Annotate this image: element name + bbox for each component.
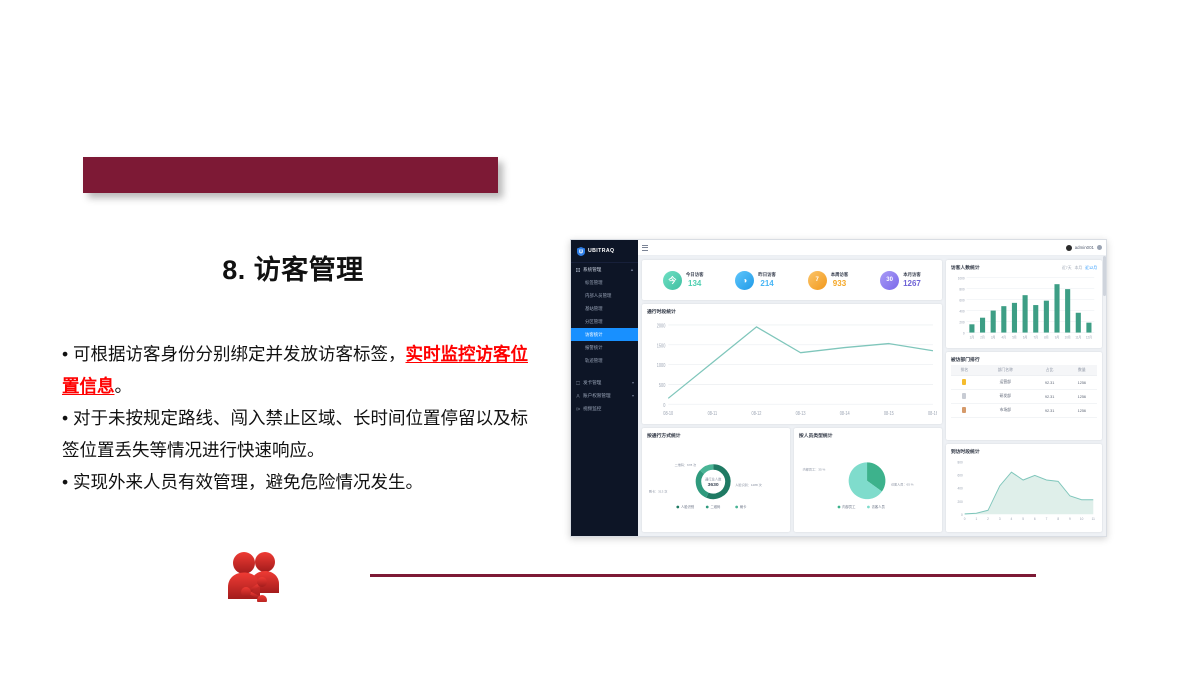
svg-text:0: 0 (963, 331, 965, 335)
sidebar-item-alarm-stats[interactable]: 报警统计 (571, 341, 638, 354)
col-rank: 排名 (951, 365, 978, 376)
sidebar-item-tag-mgmt[interactable]: 标签管理 (571, 276, 638, 289)
bar-chart-title: 访客人数统计 (951, 264, 980, 271)
svg-text:6: 6 (1034, 517, 1036, 521)
sidebar-item-visitor-stats[interactable]: 访客统计 (571, 328, 638, 341)
today-icon: 今 (663, 271, 682, 290)
area-chart: 020040060080001234567891011 (951, 457, 1097, 528)
user-name: admin001 (1075, 245, 1094, 250)
visitor-people-share-icon (226, 550, 288, 602)
svg-text:08-15: 08-15 (884, 410, 894, 416)
bell-icon[interactable] (1097, 245, 1102, 250)
svg-text:08-12: 08-12 (752, 410, 762, 416)
svg-text:刷卡: 刷卡 (740, 504, 747, 509)
dept-rank-table-card: 被访部门排行 排名 部门名称 占比 数量 运营部 (946, 352, 1102, 440)
svg-text:600: 600 (959, 298, 964, 302)
dept-name: 运营部 (978, 376, 1032, 390)
chevron-up-icon: ▲ (630, 267, 634, 272)
stat-value: 214 (760, 279, 773, 288)
stat-card-strip: 今 今日访客 134 ◑ 昨日访客 214 (642, 260, 942, 300)
sidebar-item-track-mgmt[interactable]: 轨迹管理 (571, 354, 638, 367)
svg-text:800: 800 (957, 460, 962, 464)
chevron-down-icon: ▾ (632, 393, 634, 398)
sidebar-item-zone-mgmt[interactable]: 分区管理 (571, 315, 638, 328)
yesterday-icon: ◑ (735, 271, 754, 290)
week-icon: 7 (808, 271, 827, 290)
sidebar-item-label: 轨迹管理 (585, 358, 603, 364)
svg-text:400: 400 (957, 487, 962, 491)
tab-last-7-days[interactable]: 近7天 (1062, 266, 1072, 271)
dept-count: 1256 (1067, 376, 1097, 390)
svg-text:2: 2 (987, 517, 989, 521)
medal-icon (962, 407, 966, 413)
col-pct: 占比 (1033, 365, 1067, 376)
donut-chart-title: 按通行方式统计 (647, 432, 785, 439)
pie-chart-card: 按人员类型统计 内部员工：35 %访客人员：65 %内部员工访客人员 (794, 428, 942, 532)
svg-text:人脸识别：1288 次: 人脸识别：1288 次 (735, 482, 761, 487)
stat-week[interactable]: 7 本周访客 933 (808, 271, 849, 290)
dept-name: 研发部 (978, 390, 1032, 404)
svg-text:10: 10 (1080, 517, 1084, 521)
area-chart-title: 到访时段统计 (951, 448, 1097, 455)
title-accent-bar (83, 157, 498, 193)
tab-last-12-months[interactable]: 近12月 (1085, 266, 1097, 271)
col-dept: 部门名称 (978, 365, 1032, 376)
svg-text:0: 0 (964, 517, 966, 521)
dept-rank-table: 排名 部门名称 占比 数量 运营部 92.31 1256 (951, 365, 1097, 418)
rank-medal-cell (951, 390, 978, 404)
stat-label: 昨日访客 (758, 272, 776, 278)
stat-yesterday[interactable]: ◑ 昨日访客 214 (735, 271, 776, 290)
svg-text:11月: 11月 (1075, 335, 1081, 339)
sidebar-item-label: 访客统计 (585, 332, 603, 338)
dept-count: 1256 (1067, 390, 1097, 404)
bullet-1-lead: • 可根据访客身份分别绑定并发放访客标签， (62, 344, 406, 364)
svg-text:0: 0 (663, 402, 666, 408)
grid-icon (576, 268, 580, 272)
bar-chart: 020040060080010001月2月3月4月5月6月7月8月9月10月11… (951, 273, 1097, 344)
svg-text:500: 500 (659, 383, 666, 389)
svg-text:800: 800 (959, 287, 964, 291)
hamburger-icon[interactable] (642, 245, 648, 251)
line-chart-title: 通行时段统计 (647, 308, 937, 315)
dept-pct: 92.31 (1033, 376, 1067, 390)
svg-text:内部员工：35 %: 内部员工：35 % (803, 467, 826, 472)
col-count: 数量 (1067, 365, 1097, 376)
bar-chart-card: 访客人数统计 近7天 本月 近12月 020040060080010001月2月… (946, 260, 1102, 348)
dashboard-topbar: admin001 (638, 240, 1106, 256)
dept-pct: 92.31 (1033, 390, 1067, 404)
svg-text:2000: 2000 (657, 323, 666, 329)
svg-text:1500: 1500 (657, 343, 666, 349)
sidebar-divider (571, 367, 638, 376)
board-right-column: 访客人数统计 近7天 本月 近12月 020040060080010001月2月… (946, 260, 1102, 532)
line-chart-card: 通行时段统计 050010001500200008-1008-1108-1208… (642, 304, 942, 424)
bullet-list: • 可根据访客身份分别绑定并发放访客标签，实时监控访客位置信息。 • 对于未按规… (62, 338, 542, 498)
svg-text:二维码: 二维码 (710, 504, 721, 509)
chevron-down-icon: ▾ (632, 380, 634, 385)
svg-text:3月: 3月 (991, 335, 996, 339)
dashboard-main: admin001 今 今日访客 134 (638, 240, 1106, 536)
sidebar-group-account-perm[interactable]: 账户权限管理 ▾ (571, 389, 638, 402)
page-title: 8. 访客管理 (83, 248, 503, 287)
shield-icon (577, 247, 585, 256)
bullet-item-1: • 可根据访客身份分别绑定并发放访客标签，实时监控访客位置信息。 (62, 338, 542, 402)
bullet-1-tail: 。 (115, 376, 133, 396)
sidebar-group-label: 账户权限管理 (583, 393, 611, 399)
svg-text:4: 4 (1010, 517, 1012, 521)
svg-text:0: 0 (961, 513, 963, 517)
svg-text:08-16: 08-16 (928, 410, 937, 416)
sidebar-item-label: 标签管理 (585, 280, 603, 286)
dashboard-screenshot: UBITRAQ 系统管理 ▲ 标签管理 内部人员管理 基站管理 分区管理 访客统… (570, 239, 1107, 537)
dept-rank-title: 被访部门排行 (951, 356, 1097, 363)
svg-text:200: 200 (957, 500, 962, 504)
stat-label: 本周访客 (831, 272, 849, 278)
pie-row: 按通行方式统计 通行总人数3630二维码：678 次刷卡：313 次人脸识别：1… (642, 428, 942, 532)
svg-text:4月: 4月 (1001, 335, 1006, 339)
svg-text:二维码：678 次: 二维码：678 次 (675, 462, 697, 467)
bullet-item-2: • 对于未按规定路线、闯入禁止区域、长时间位置停留以及标签位置丢失等情况进行快速… (62, 402, 542, 466)
svg-text:08-13: 08-13 (796, 410, 806, 416)
stat-label: 今日访客 (686, 272, 704, 278)
user-lock-icon (576, 394, 580, 398)
line-chart: 050010001500200008-1008-1108-1208-1308-1… (647, 317, 937, 420)
sidebar-item-label: 内部人员管理 (585, 293, 611, 299)
dashboard-board: 今 今日访客 134 ◑ 昨日访客 214 (638, 256, 1106, 536)
svg-text:内部员工: 内部员工 (842, 504, 856, 509)
month-icon: 30 (880, 271, 899, 290)
rank-medal-cell (951, 376, 978, 390)
stat-label: 本月访客 (903, 272, 921, 278)
svg-text:通行总人数: 通行总人数 (705, 477, 722, 482)
sidebar-item-label: 分区管理 (585, 319, 603, 325)
tab-this-month[interactable]: 本月 (1075, 266, 1083, 271)
svg-text:9月: 9月 (1055, 335, 1060, 339)
sidebar-group-video[interactable]: 视频监控 (571, 402, 638, 415)
sidebar-group-label: 视频监控 (583, 406, 601, 412)
app-logo[interactable]: UBITRAQ (571, 240, 638, 263)
board-left-column: 今 今日访客 134 ◑ 昨日访客 214 (642, 260, 942, 532)
svg-text:10月: 10月 (1064, 335, 1070, 339)
area-chart-card: 到访时段统计 020040060080001234567891011 (946, 444, 1102, 532)
card-icon (576, 381, 580, 385)
svg-text:6月: 6月 (1023, 335, 1028, 339)
svg-text:8: 8 (1057, 517, 1059, 521)
svg-text:3630: 3630 (708, 482, 719, 488)
dept-name: 市场部 (978, 404, 1032, 418)
svg-text:5月: 5月 (1012, 335, 1017, 339)
sidebar-item-internal-staff[interactable]: 内部人员管理 (571, 289, 638, 302)
svg-text:08-10: 08-10 (663, 410, 673, 416)
sidebar-item-label: 基站管理 (585, 306, 603, 312)
svg-text:访客人员: 访客人员 (872, 504, 886, 509)
bar-chart-range-tabs: 近7天 本月 近12月 (1062, 266, 1097, 271)
svg-text:400: 400 (959, 309, 964, 313)
svg-text:08-14: 08-14 (840, 410, 850, 416)
svg-text:7月: 7月 (1033, 335, 1038, 339)
svg-text:600: 600 (957, 473, 962, 477)
app-logo-text: UBITRAQ (588, 248, 614, 254)
sidebar-group-label: 发卡管理 (583, 380, 601, 386)
footer-rule (370, 574, 1036, 577)
rank-medal-cell (951, 404, 978, 418)
svg-text:2月: 2月 (980, 335, 985, 339)
sidebar-item-station-mgmt[interactable]: 基站管理 (571, 302, 638, 315)
svg-text:1000: 1000 (958, 276, 965, 280)
svg-text:200: 200 (959, 320, 964, 324)
stat-value: 134 (688, 279, 701, 288)
svg-text:3: 3 (999, 517, 1001, 521)
medal-icon (962, 393, 966, 399)
donut-chart-card: 按通行方式统计 通行总人数3630二维码：678 次刷卡：313 次人脸识别：1… (642, 428, 790, 532)
bullet-item-3: • 实现外来人员有效管理，避免危险情况发生。 (62, 466, 542, 498)
topbar-user-area: admin001 (1066, 245, 1102, 251)
page-scrollbar[interactable] (1103, 256, 1106, 536)
pie-chart-title: 按人员类型统计 (799, 432, 937, 439)
video-icon (576, 407, 580, 411)
sidebar-group-card-mgmt[interactable]: 发卡管理 ▾ (571, 376, 638, 389)
dept-pct: 92.31 (1033, 404, 1067, 418)
slide-root: 8. 访客管理 • 可根据访客身份分别绑定并发放访客标签，实时监控访客位置信息。… (0, 0, 1203, 676)
avatar[interactable] (1066, 245, 1072, 251)
svg-text:8月: 8月 (1044, 335, 1049, 339)
dept-count: 1256 (1067, 404, 1097, 418)
svg-text:1: 1 (975, 517, 977, 521)
svg-text:1000: 1000 (657, 363, 666, 369)
svg-text:11: 11 (1091, 517, 1094, 521)
svg-text:1月: 1月 (969, 335, 974, 339)
svg-text:刷卡：313 次: 刷卡：313 次 (649, 489, 668, 494)
svg-text:5: 5 (1022, 517, 1024, 521)
medal-icon (962, 379, 966, 385)
table-row[interactable]: 运营部 92.31 1256 (951, 376, 1097, 390)
sidebar-group-system[interactable]: 系统管理 ▲ (571, 263, 638, 276)
svg-text:9: 9 (1069, 517, 1071, 521)
svg-text:08-11: 08-11 (708, 410, 718, 416)
table-row[interactable]: 研发部 92.31 1256 (951, 390, 1097, 404)
svg-text:7: 7 (1045, 517, 1047, 521)
svg-text:12月: 12月 (1086, 335, 1092, 339)
stat-month[interactable]: 30 本月访客 1267 (880, 271, 921, 290)
table-header-row: 排名 部门名称 占比 数量 (951, 365, 1097, 376)
sidebar-group-system-label: 系统管理 (583, 267, 601, 273)
svg-text:人脸识别: 人脸识别 (681, 504, 694, 509)
stat-value: 933 (833, 279, 846, 288)
donut-chart: 通行总人数3630二维码：678 次刷卡：313 次人脸识别：1288 次人脸识… (647, 441, 785, 528)
sidebar-item-label: 报警统计 (585, 345, 603, 351)
stat-value: 1267 (903, 279, 921, 288)
svg-text:访客人员：65 %: 访客人员：65 % (891, 481, 914, 486)
dashboard-sidebar: UBITRAQ 系统管理 ▲ 标签管理 内部人员管理 基站管理 分区管理 访客统… (571, 240, 638, 536)
table-row[interactable]: 市场部 92.31 1256 (951, 404, 1097, 418)
pie-chart: 内部员工：35 %访客人员：65 %内部员工访客人员 (799, 441, 937, 528)
stat-today[interactable]: 今 今日访客 134 (663, 271, 704, 290)
